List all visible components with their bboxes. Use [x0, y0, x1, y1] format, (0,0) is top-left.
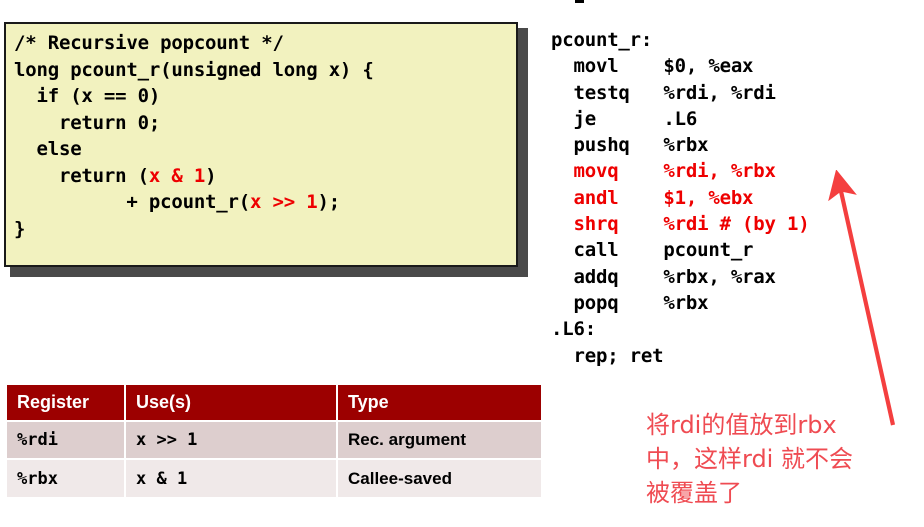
c-source-token: /* Recursive popcount */ — [14, 32, 284, 54]
c-source-token: long pcount_r(unsigned long x) { — [14, 59, 374, 81]
assembly-line: popq %rbx — [551, 290, 810, 316]
c-source-highlight-token: x >> 1 — [250, 191, 317, 213]
c-source-line: return 0; — [14, 110, 374, 137]
c-source-line: /* Recursive popcount */ — [14, 30, 374, 57]
cell-type: Rec. argument — [337, 421, 541, 459]
assembly-code-block: pcount_r: movl $0, %eax testq %rdi, %rdi… — [551, 27, 810, 369]
c-source-line: + pcount_r(x >> 1); — [14, 189, 374, 216]
cell-type: Callee-saved — [337, 459, 541, 497]
assembly-line-highlighted: shrq %rdi # (by 1) — [551, 211, 810, 237]
c-source-token: ); — [317, 191, 339, 213]
assembly-line: testq %rdi, %rdi — [551, 80, 810, 106]
annotation-arrow-icon — [815, 170, 915, 435]
c-source-line: return (x & 1) — [14, 163, 374, 190]
c-source-token: + pcount_r( — [14, 191, 250, 213]
assembly-line: .L6: — [551, 316, 810, 342]
assembly-line-highlighted: andl $1, %ebx — [551, 185, 810, 211]
cropped-glyph-mark — [575, 0, 584, 3]
c-source-line: } — [14, 216, 374, 243]
c-source-token: ) — [205, 165, 216, 187]
c-source-line: long pcount_r(unsigned long x) { — [14, 57, 374, 84]
c-source-code-box: /* Recursive popcount */long pcount_r(un… — [4, 22, 518, 267]
assembly-line: call pcount_r — [551, 237, 810, 263]
c-source-token: return ( — [14, 165, 149, 187]
table-row: %rdi x >> 1 Rec. argument — [7, 421, 541, 459]
c-source-token: } — [14, 218, 25, 240]
column-header-type: Type — [337, 385, 541, 421]
assembly-line: je .L6 — [551, 106, 810, 132]
assembly-line: pushq %rbx — [551, 132, 810, 158]
c-source-token: else — [14, 138, 81, 160]
cell-uses: x & 1 — [125, 459, 337, 497]
c-source-highlight-token: x & 1 — [149, 165, 205, 187]
register-usage-table: Register Use(s) Type %rdi x >> 1 Rec. ar… — [7, 385, 541, 497]
c-source-token: return 0; — [14, 112, 160, 134]
c-source-code-text: /* Recursive popcount */long pcount_r(un… — [14, 30, 374, 242]
cell-register: %rbx — [7, 459, 125, 497]
c-source-line: else — [14, 136, 374, 163]
c-source-line: if (x == 0) — [14, 83, 374, 110]
annotation-text: 将rdi的值放到rbx 中，这样rdi 就不会 被覆盖了 — [646, 408, 918, 510]
table-header-row: Register Use(s) Type — [7, 385, 541, 421]
assembly-line: addq %rbx, %rax — [551, 264, 810, 290]
cell-register: %rdi — [7, 421, 125, 459]
table-row: %rbx x & 1 Callee-saved — [7, 459, 541, 497]
c-source-token: if (x == 0) — [14, 85, 160, 107]
column-header-uses: Use(s) — [125, 385, 337, 421]
column-header-register: Register — [7, 385, 125, 421]
assembly-line: movl $0, %eax — [551, 53, 810, 79]
cell-uses: x >> 1 — [125, 421, 337, 459]
assembly-line-highlighted: movq %rdi, %rbx — [551, 158, 810, 184]
assembly-line: rep; ret — [551, 343, 810, 369]
assembly-line: pcount_r: — [551, 27, 810, 53]
